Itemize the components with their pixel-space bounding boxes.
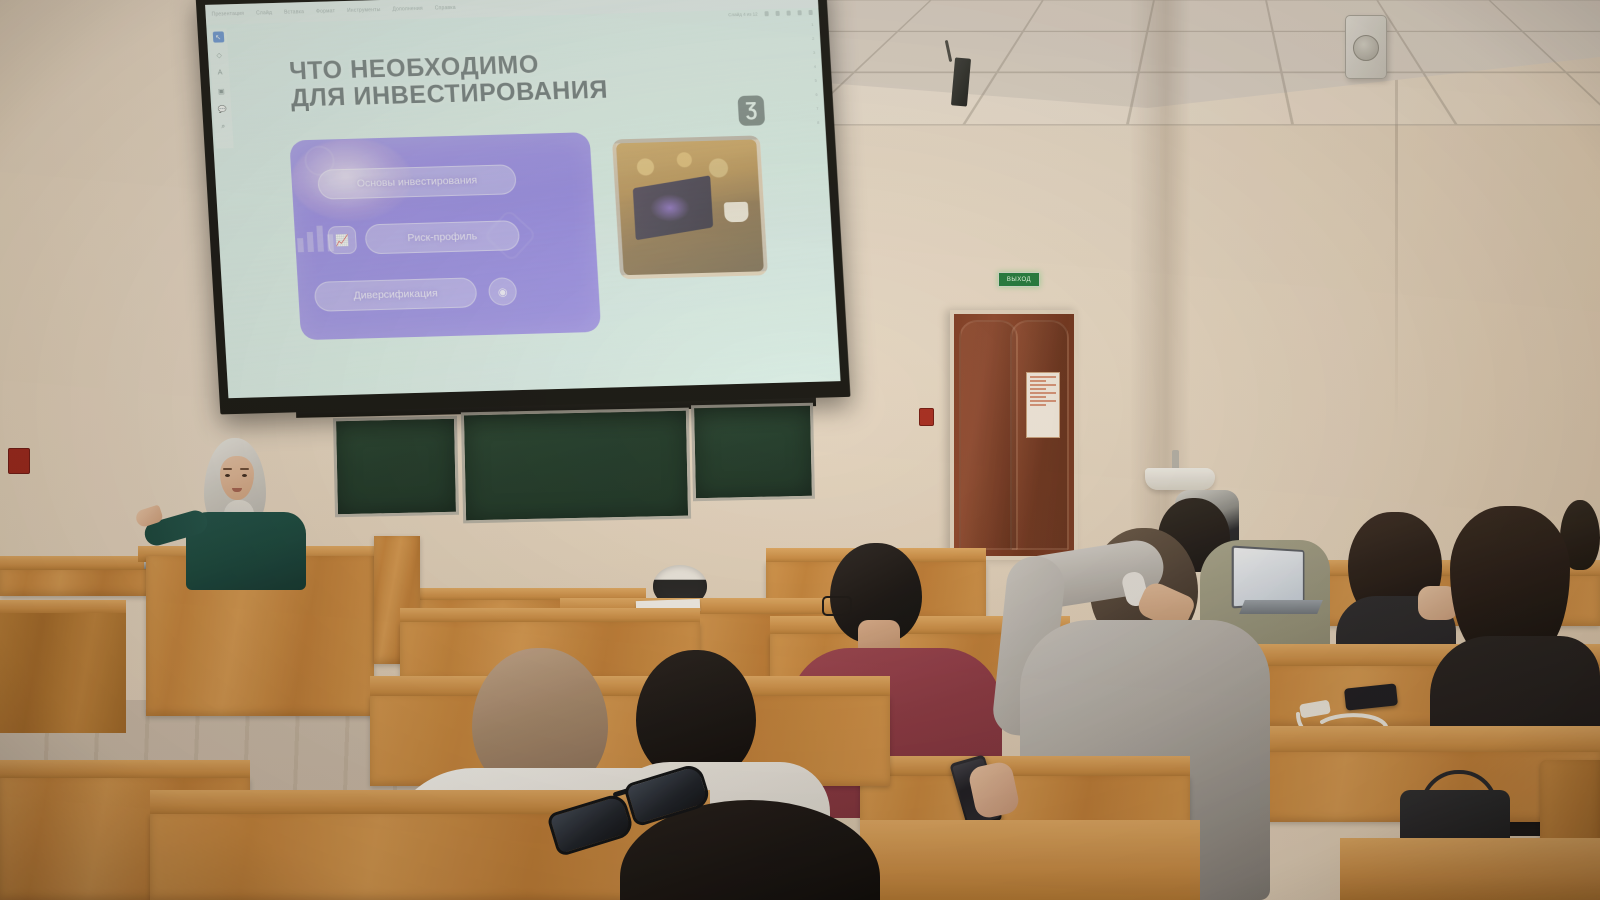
page-marker[interactable]: 4 (814, 64, 817, 69)
eye (242, 474, 247, 477)
page-marker[interactable]: 3 (813, 50, 816, 55)
page-marker[interactable]: 8 (817, 120, 820, 125)
toolbar-icon[interactable] (797, 10, 801, 15)
page-marker[interactable]: 7 (816, 106, 819, 111)
eyebrow (223, 468, 232, 470)
door[interactable] (950, 310, 1078, 560)
slide-pill-risk-profile: Риск-профиль (364, 220, 520, 254)
menu-item-help[interactable]: Справка (435, 5, 456, 12)
bench-surface (860, 820, 1200, 900)
zoom-tool-icon[interactable]: ⌕ (218, 121, 230, 132)
menu-item-insert[interactable]: Вставка (284, 9, 304, 16)
projection-screen: Презентация Слайд Вставка Формат Инструм… (196, 0, 851, 414)
glasses-icon (822, 596, 852, 616)
image-tool-icon[interactable]: ▣ (215, 85, 227, 96)
presentation-app-sidebar[interactable]: ↖ ◇ A ▣ 💬 ⌕ (209, 28, 234, 148)
menu-item-addons[interactable]: Дополнения (392, 6, 423, 13)
chalkboard-panel (691, 403, 815, 502)
slide-pill-basics: Основы инвестирования (317, 164, 517, 199)
chalkboard-panel (461, 408, 691, 524)
desk-front-panel (0, 570, 150, 596)
desk-surface (860, 756, 1190, 778)
student-head (1450, 506, 1570, 656)
exit-sign: ВЫХОД (998, 272, 1040, 287)
sink-icon (1145, 468, 1215, 490)
shape-tool-icon[interactable]: ◇ (213, 49, 225, 60)
slide-pill-diversification: Диверсификация (314, 277, 478, 311)
cursor-tool-icon[interactable]: ↖ (212, 31, 224, 42)
globe-icon: ◉ (488, 277, 518, 306)
page-marker[interactable]: 1 (811, 22, 814, 27)
door-notice-poster (1026, 372, 1060, 438)
speaker-icon (1345, 15, 1387, 79)
text-tool-icon[interactable]: A (214, 67, 226, 78)
fire-alarm-icon[interactable] (919, 408, 934, 426)
chart-icon: 📈 (327, 226, 357, 255)
menu-item-format[interactable]: Формат (316, 8, 335, 15)
coffee-cup-icon (724, 202, 749, 223)
page-marker[interactable]: 6 (815, 92, 818, 97)
menu-item-tools[interactable]: Инструменты (347, 7, 381, 14)
slide-canvas: ЧТО НЕОБХОДИМО ДЛЯ ИНВЕСТИРОВАНИЯ Ʒ Осно… (233, 15, 810, 386)
slide-page-navigator[interactable]: 1 2 3 4 5 6 7 8 (809, 22, 825, 192)
desk-front-panel (0, 613, 126, 733)
desk-surface (0, 556, 150, 571)
page-marker[interactable]: 2 (812, 36, 815, 41)
brand-logo-icon: Ʒ (737, 95, 765, 126)
bench-surface (370, 676, 890, 698)
presenter (142, 438, 322, 588)
projection-surface: Презентация Слайд Вставка Формат Инструм… (205, 0, 840, 398)
toolbar-icon[interactable] (808, 10, 812, 15)
comment-tool-icon[interactable]: 💬 (216, 103, 228, 114)
fire-alarm-icon[interactable] (8, 448, 30, 474)
laptop-keyboard[interactable] (1239, 600, 1323, 614)
desk-surface (0, 600, 126, 614)
slide-purple-card: Основы инвестирования Риск-профиль Дивер… (289, 132, 601, 340)
bench-surface (1340, 838, 1600, 900)
menu-item-presentation[interactable]: Презентация (212, 11, 245, 18)
eyebrow (240, 468, 249, 470)
bench-surface (0, 760, 250, 780)
slide-title: ЧТО НЕОБХОДИМО ДЛЯ ИНВЕСТИРОВАНИЯ (288, 47, 691, 111)
menu-item-slide[interactable]: Слайд (256, 10, 272, 16)
slide-photo-laptop-coffee (612, 135, 768, 279)
speaker-cone (1353, 35, 1379, 61)
page-marker[interactable]: 5 (814, 78, 817, 83)
chalkboard-panel (333, 416, 459, 518)
lecture-hall-photo: ВЫХОД Презентация Слайд Вставка Формат И… (0, 0, 1600, 900)
screen-glow (649, 193, 691, 222)
student-head (636, 650, 756, 780)
eye (225, 474, 230, 477)
